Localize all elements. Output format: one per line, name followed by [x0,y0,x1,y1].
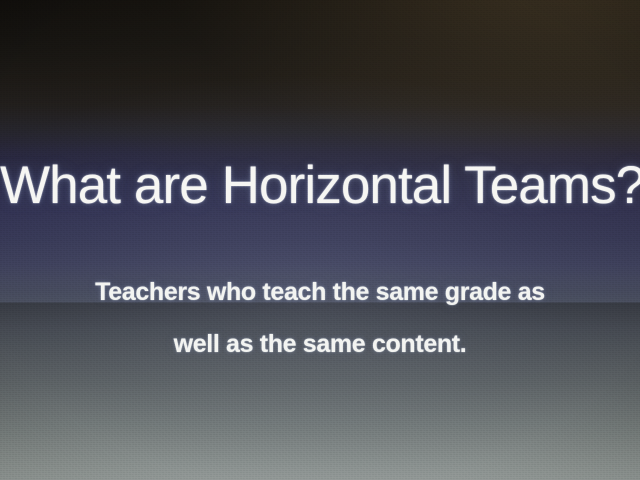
slide-photograph: What are Horizontal Teams? Teachers who … [0,0,640,480]
slide-background-lower-gradient [0,264,640,480]
